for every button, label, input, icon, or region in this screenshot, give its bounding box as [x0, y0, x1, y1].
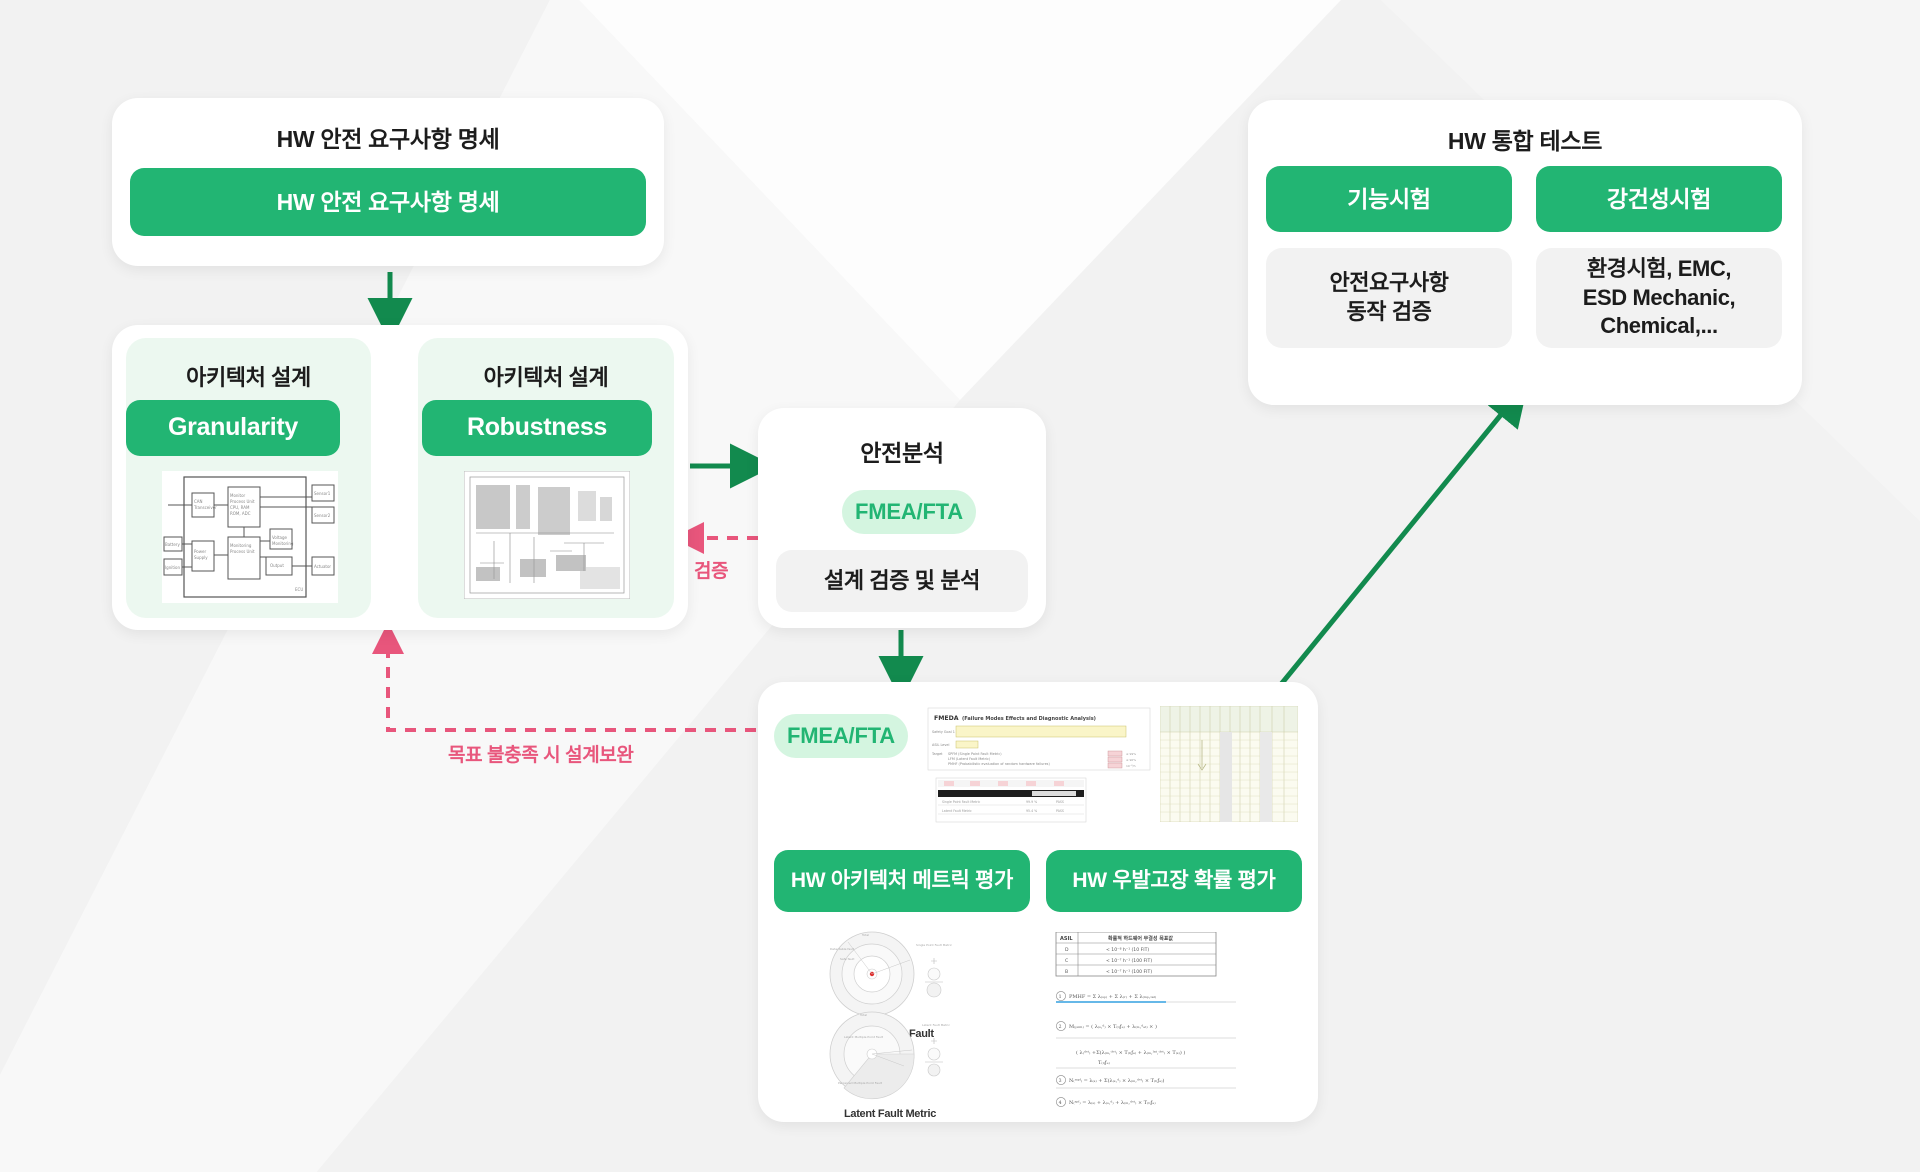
svg-text:< 10⁻⁷ h⁻¹ (100 FIT): < 10⁻⁷ h⁻¹ (100 FIT): [1106, 958, 1152, 964]
svg-text:Transceiver: Transceiver: [193, 505, 217, 510]
svg-text:Latent Fault Metric: Latent Fault Metric: [942, 809, 972, 813]
svg-text:CPU, RAM: CPU, RAM: [230, 505, 250, 510]
svg-text:LFM (Latent Fault Metric): LFM (Latent Fault Metric): [948, 757, 991, 761]
fmeda-spreadsheet-thumbnail: FMEDA (Failure Modes Effects and Diagnos…: [926, 706, 1152, 826]
page-title-spec: HW 안전 요구사항 명세: [112, 120, 664, 154]
rework-label: 목표 불충족 시 설계보완: [448, 740, 633, 767]
svg-text:1: 1: [1059, 994, 1062, 1000]
svg-text:≥ 99%: ≥ 99%: [1126, 752, 1136, 756]
single-point-fault-metric-diagram: TotalDetectable fault Safe faultSingle P…: [822, 930, 962, 1022]
svg-text:Voltage: Voltage: [272, 535, 288, 540]
svg-text:2: 2: [1059, 1024, 1062, 1030]
asil-target-table-and-formulas: ASIL확률적 하드웨어 무결성 목표값 DCB < 10⁻⁸ h⁻¹ (10 …: [1046, 932, 1246, 1112]
svg-text:PMHF (Probabilistic evaluation: PMHF (Probabilistic evaluation of random…: [948, 762, 1050, 766]
latent-fault-metric-caption: Latent Fault Metric: [830, 1108, 950, 1120]
robustness-button[interactable]: Robustness: [422, 400, 652, 456]
svg-text:ROM, ADC: ROM, ADC: [230, 511, 251, 516]
robustness-subcard: 아키텍처 설계 Robustness: [418, 338, 674, 618]
granularity-button[interactable]: Granularity: [126, 400, 340, 456]
svg-text:95.4 %: 95.4 %: [1026, 809, 1037, 813]
safety-requirement-verification-text: 안전요구사항 동작 검증: [1266, 248, 1512, 348]
svg-text:M₍ₚₘₕ₎ = ( λ₍ₛ,ᵈ₎ × T₍ₗᵢƒₑ₎ +: M₍ₚₘₕ₎ = ( λ₍ₛ,ᵈ₎ × T₍ₗᵢƒₑ₎ + λ₍ₘ,ᵈₑₜ₎ ×…: [1069, 1023, 1157, 1030]
fmea-fta-tag: FMEA/FTA: [842, 490, 976, 534]
svg-text:ECU: ECU: [295, 587, 303, 592]
functional-test-button[interactable]: 기능시험: [1266, 166, 1512, 232]
hw-architecture-metric-evaluation-button[interactable]: HW 아키텍처 메트릭 평가: [774, 850, 1030, 912]
svg-text:Latent Fault Metric: Latent Fault Metric: [922, 1023, 950, 1027]
svg-text:Target: Target: [931, 752, 943, 756]
fmea-analysis-card: FMEA/FTA FMEDA (Failure Modes Effects an…: [758, 682, 1318, 1122]
hw-safety-requirement-spec-card: HW 안전 요구사항 명세 HW 안전 요구사항 명세: [112, 98, 664, 266]
svg-text:N₍ᵐᵖᶠ₎ = λ₍ₛ₎ + Σ(λ₍ₛ,ᵈ₎ × λ₍ₘ: N₍ᵐᵖᶠ₎ = λ₍ₛ₎ + Σ(λ₍ₛ,ᵈ₎ × λ₍ₘ,ᵈᵉᵗ₎ × T₍…: [1069, 1077, 1164, 1084]
svg-text:PMHF = Σ λ₍ₛₚ₎ + Σ λ₍ᵣ₎ + Σ λ₍: PMHF = Σ λ₍ₛₚ₎ + Σ λ₍ᵣ₎ + Σ λ₍ₘₚ,ₗₐₜ₎: [1069, 994, 1156, 1000]
svg-text:Monitoring: Monitoring: [272, 541, 294, 546]
svg-text:SPFM (Single Point Fault Metri: SPFM (Single Point Fault Metric): [948, 752, 1002, 756]
svg-text:Perceived Multiple Point Fault: Perceived Multiple Point Fault: [838, 1081, 883, 1085]
svg-text:Latent Multiple Point Fault: Latent Multiple Point Fault: [844, 1035, 884, 1039]
granularity-subcard: 아키텍처 설계 Granularity: [126, 338, 371, 618]
svg-text:Power: Power: [194, 549, 206, 554]
svg-text:Process Unit: Process Unit: [230, 499, 255, 504]
robustness-test-button[interactable]: 강건성시험: [1536, 166, 1782, 232]
circuit-schematic-thumbnail: [464, 471, 630, 599]
svg-text:99.9 %: 99.9 %: [1026, 800, 1037, 804]
svg-text:Sensor2: Sensor2: [314, 513, 331, 518]
svg-text:Monitoring: Monitoring: [230, 543, 252, 548]
hw-random-failure-probability-evaluation-button[interactable]: HW 우발고장 확률 평가: [1046, 850, 1302, 912]
svg-text:Ignition: Ignition: [165, 565, 180, 570]
svg-text:Safety Goal 1: Safety Goal 1: [932, 730, 955, 734]
svg-text:(Failure Modes Effects and Dia: (Failure Modes Effects and Diagnostic An…: [962, 716, 1096, 722]
fta-matrix-thumbnail: [1160, 706, 1298, 822]
safety-analysis-title: 안전분석: [758, 434, 1046, 468]
hw-safety-requirement-spec-button[interactable]: HW 안전 요구사항 명세: [130, 168, 646, 236]
latent-fault-metric-diagram: TotalLatent Multiple Point Fault Perceiv…: [822, 1010, 962, 1102]
environmental-test-text: 환경시험, EMC, ESD Mechanic, Chemical,...: [1536, 248, 1782, 348]
svg-text:B: B: [1065, 969, 1068, 975]
svg-text:N₍ˢᵖᶠ₎ = λ₍ₛ₎ + λ₍ₛ,ᵈ₎ + λ₍ₘ,ᵈ: N₍ˢᵖᶠ₎ = λ₍ₛ₎ + λ₍ₛ,ᵈ₎ + λ₍ₘ,ᵈᵉᵗ₎ × T₍ₗᵢ…: [1069, 1100, 1156, 1106]
svg-text:Single Point Fault Metric: Single Point Fault Metric: [942, 800, 981, 804]
svg-text:< 10⁻⁷ h⁻¹ (100 FIT): < 10⁻⁷ h⁻¹ (100 FIT): [1106, 969, 1152, 975]
svg-text:Actuator: Actuator: [314, 564, 331, 569]
svg-text:Sensor1: Sensor1: [314, 491, 331, 496]
svg-text:FMEDA: FMEDA: [934, 715, 959, 722]
svg-text:≥ 90%: ≥ 90%: [1126, 758, 1136, 762]
safety-analysis-card: 안전분석 FMEA/FTA 설계 검증 및 분석: [758, 408, 1046, 628]
svg-text:ASIL: ASIL: [1060, 936, 1073, 942]
svg-text:PASS: PASS: [1056, 809, 1064, 813]
svg-text:Monitor: Monitor: [230, 493, 246, 498]
hw-integration-test-title: HW 통합 테스트: [1248, 122, 1802, 156]
svg-text:Total: Total: [861, 933, 869, 937]
svg-text:Detectable fault: Detectable fault: [830, 947, 855, 951]
svg-text:C: C: [1065, 958, 1068, 964]
svg-text:< 10⁻⁸ h⁻¹ (10 FIT): < 10⁻⁸ h⁻¹ (10 FIT): [1106, 947, 1149, 953]
svg-text:Supply: Supply: [194, 555, 208, 560]
svg-text:T₍ₗᵢƒₑ₎: T₍ₗᵢƒₑ₎: [1098, 1060, 1110, 1066]
svg-text:3: 3: [1059, 1078, 1062, 1084]
svg-text:Total: Total: [859, 1013, 867, 1017]
svg-text:Battery: Battery: [165, 542, 180, 547]
svg-text:PASS: PASS: [1056, 800, 1064, 804]
svg-text:ASIL Level: ASIL Level: [932, 743, 949, 747]
svg-text:Process Unit: Process Unit: [230, 549, 255, 554]
block-diagram-thumbnail: MonitorProcess Unit CPU, RAMROM, ADC Mon…: [162, 471, 338, 603]
svg-text:확률적 하드웨어 무결성 목표값: 확률적 하드웨어 무결성 목표값: [1108, 935, 1173, 942]
svg-text:CAN: CAN: [194, 499, 203, 504]
granularity-title: 아키텍처 설계: [126, 360, 371, 392]
fmea-fta-tag-bottom: FMEA/FTA: [774, 714, 908, 758]
svg-text:( λ₍ᵈᵉᵗ₎ +Σ(λ₍ₘ,ᵈᵉᵗ₎ × T₍ₗᵢƒₑ₎: ( λ₍ᵈᵉᵗ₎ +Σ(λ₍ₘ,ᵈᵉᵗ₎ × T₍ₗᵢƒₑ₎ + λ₍ₘ,ˡᵃᵗ…: [1076, 1049, 1185, 1056]
design-verification-button[interactable]: 설계 검증 및 분석: [776, 550, 1028, 612]
svg-text:10⁻⁸/h: 10⁻⁸/h: [1126, 764, 1136, 768]
svg-text:Safe fault: Safe fault: [840, 957, 855, 961]
architecture-design-card: 아키텍처 설계 Granularity: [112, 325, 688, 630]
svg-text:D: D: [1065, 947, 1069, 953]
svg-text:Output: Output: [270, 563, 284, 568]
svg-text:Single Point Fault Metric: Single Point Fault Metric: [916, 943, 952, 947]
robustness-title: 아키텍처 설계: [418, 360, 674, 392]
hw-integration-test-card: HW 통합 테스트 기능시험 강건성시험 안전요구사항 동작 검증 환경시험, …: [1248, 100, 1802, 405]
diagram-canvas: 검증 목표 불충족 시 설계보완 HW 안전 요구사항 명세 HW 안전 요구사…: [0, 0, 1920, 1172]
svg-text:4: 4: [1059, 1100, 1062, 1106]
verify-label: 검증: [694, 556, 728, 583]
